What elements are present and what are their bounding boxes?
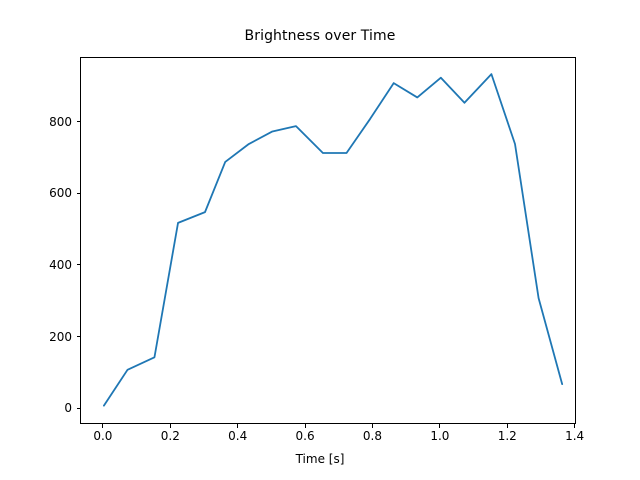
plot-area — [80, 57, 576, 424]
x-tick-mark — [507, 424, 508, 428]
x-tick-mark — [574, 424, 575, 428]
x-tick-label: 1.4 — [552, 430, 598, 442]
y-tick-label: 200 — [26, 331, 72, 343]
x-tick-mark — [372, 424, 373, 428]
y-tick-label: 0 — [26, 402, 72, 414]
x-tick-label: 1.2 — [484, 430, 530, 442]
chart-title: Brightness over Time — [0, 28, 640, 44]
x-tick-label: 0.2 — [147, 430, 193, 442]
x-tick-mark — [439, 424, 440, 428]
x-tick-mark — [237, 424, 238, 428]
data-line-svg — [81, 58, 577, 425]
y-tick-label: 400 — [26, 259, 72, 271]
x-tick-label: 1.0 — [417, 430, 463, 442]
x-tick-label: 0.4 — [215, 430, 261, 442]
x-tick-label: 0.0 — [80, 430, 126, 442]
x-tick-mark — [305, 424, 306, 428]
figure-canvas: Brightness over Time Brightness Time [s]… — [0, 0, 640, 480]
x-tick-mark — [170, 424, 171, 428]
x-axis-label: Time [s] — [0, 452, 640, 466]
y-tick-mark — [77, 193, 81, 194]
x-tick-label: 0.6 — [282, 430, 328, 442]
y-tick-mark — [77, 408, 81, 409]
y-tick-mark — [77, 121, 81, 122]
x-tick-mark — [102, 424, 103, 428]
y-tick-label: 600 — [26, 187, 72, 199]
y-tick-label: 800 — [26, 116, 72, 128]
x-tick-label: 0.8 — [349, 430, 395, 442]
line-series-brightness — [104, 74, 562, 406]
y-tick-mark — [77, 336, 81, 337]
y-tick-mark — [77, 264, 81, 265]
